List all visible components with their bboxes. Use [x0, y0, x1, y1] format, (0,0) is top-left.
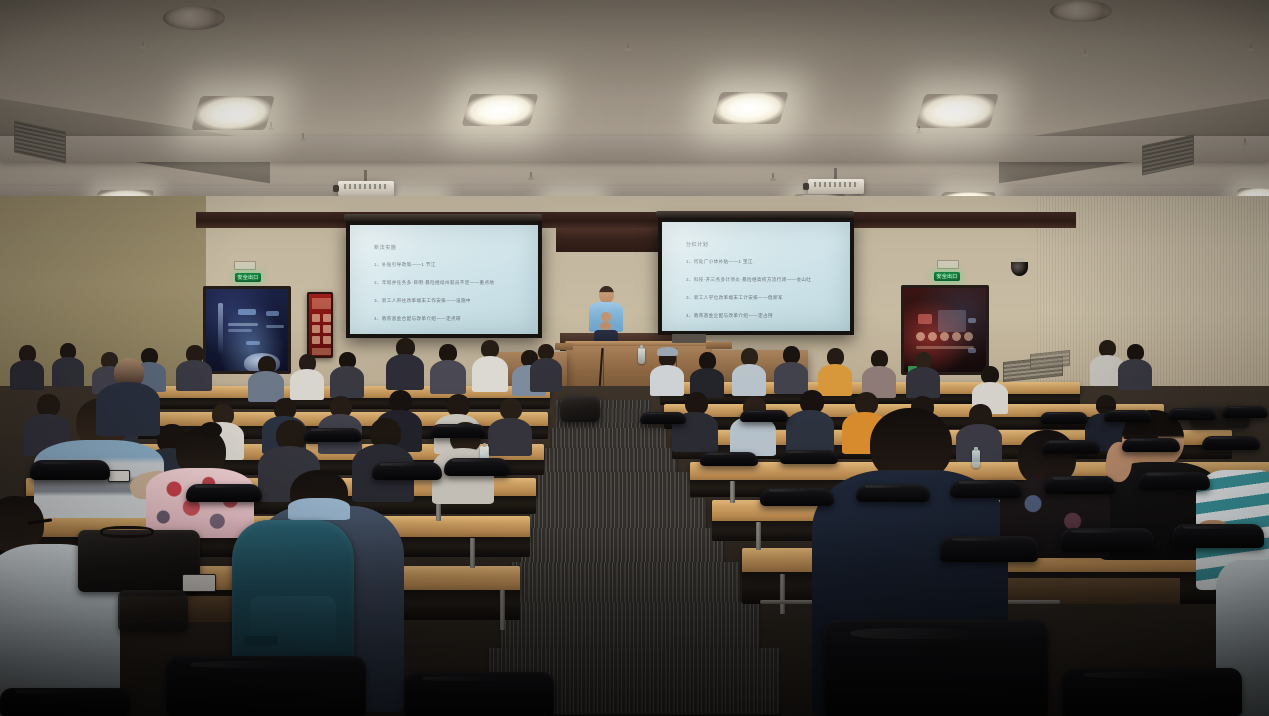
right-slide-line-4: 4、教育基金企配与改革介绍——定占持 — [686, 313, 773, 319]
ceiling-light-3 — [711, 92, 788, 124]
desk-leg-right-3 — [780, 574, 785, 614]
sprinkler-head-9 — [528, 172, 534, 181]
chair[interactable] — [30, 460, 110, 480]
sprinkler-head-1 — [140, 41, 146, 50]
left-slide-line-1: 1、补贴引导政策——1 节江 — [374, 262, 436, 268]
audience-member — [330, 352, 364, 398]
chair[interactable] — [760, 488, 834, 506]
bag-strap — [100, 526, 154, 538]
audience-member — [488, 398, 532, 456]
right-slide-line-2: 2、科技·开三务多计项炎·暴险继高校方流行闭——会山吐 — [686, 277, 811, 283]
right-slide-line-3: 3、新工人学位改革端末工计安排——倡新军 — [686, 295, 783, 301]
sprinkler-head-7 — [1242, 138, 1248, 147]
water-bottle-2 — [638, 348, 645, 364]
chair[interactable] — [1168, 408, 1216, 420]
bag-on-desk-right — [560, 396, 600, 422]
exit-sign-left: 安全出口 — [235, 273, 261, 282]
hair-bun — [200, 422, 222, 438]
hoodie-collar — [288, 498, 350, 520]
ceiling-light-2 — [461, 94, 538, 126]
audience-member — [176, 345, 212, 391]
audience-member — [386, 338, 424, 390]
left-slide-title: 新法实施 — [374, 244, 396, 251]
audience-member — [96, 358, 160, 436]
desk-leg-right-1 — [730, 481, 735, 503]
desk-leg-left-2 — [470, 538, 475, 568]
chair[interactable] — [404, 672, 554, 716]
left-projection-screen[interactable]: 新法实施 1、补贴引导政策——1 节江 2、年假并任务多·目明·暴险继续州就员不… — [346, 221, 542, 338]
chair[interactable] — [700, 452, 758, 466]
audience-member — [530, 344, 562, 392]
presenter-laptop[interactable] — [672, 334, 706, 343]
aisle-step-1 — [552, 428, 666, 450]
audience-member — [862, 350, 896, 398]
screen-roller-left — [344, 214, 542, 221]
chair[interactable] — [640, 412, 686, 424]
chair[interactable] — [1060, 528, 1154, 552]
dome-security-camera — [1011, 258, 1028, 277]
desk-leg-right-2 — [756, 522, 761, 550]
wood-trim-upper — [196, 212, 1076, 228]
audience-member — [818, 348, 852, 396]
audience-member — [52, 343, 84, 387]
wall-fixture-right — [937, 260, 959, 269]
baseball-cap — [657, 347, 678, 356]
chair[interactable] — [1122, 438, 1180, 452]
ceiling-light-4 — [915, 94, 999, 128]
chair[interactable] — [1042, 440, 1100, 454]
aisle-step-4 — [530, 498, 706, 530]
sprinkler-head-3 — [300, 133, 306, 142]
red-notice-board[interactable] — [307, 292, 333, 358]
presenter — [586, 286, 626, 348]
sprinkler-head-10 — [770, 173, 776, 182]
left-slide-line-2: 2、年假并任务多·目明·暴险继续州就员不足——重点地 — [374, 280, 494, 286]
chair[interactable] — [824, 620, 1048, 716]
smartphone-on-desk[interactable] — [182, 574, 216, 592]
chair[interactable] — [1104, 410, 1152, 422]
aisle-step-2 — [545, 448, 677, 474]
presenter-head — [599, 286, 614, 303]
chair[interactable] — [186, 484, 262, 502]
sprinkler-head-5 — [1082, 49, 1088, 58]
ceiling-projector-left[interactable] — [338, 181, 394, 196]
chair[interactable] — [950, 480, 1022, 498]
round-air-vent-right — [1050, 0, 1112, 22]
aisle-step-6 — [512, 562, 740, 604]
chair[interactable] — [1044, 476, 1116, 494]
chair[interactable] — [1062, 668, 1242, 716]
audience-member — [10, 345, 44, 390]
round-air-vent-left — [163, 6, 225, 30]
audience-member — [650, 350, 684, 396]
desk-leg-left-3 — [500, 590, 505, 630]
aisle-step-3 — [538, 472, 690, 500]
presenter-hand-lower — [600, 322, 611, 330]
right-projection-screen[interactable]: 分红计划 1、何处广小体补贴——1 宝江 2、科技·开三务多计项炎·暴险继高校方… — [658, 218, 854, 335]
sprinkler-head-2 — [268, 122, 274, 131]
screen-roller-right — [656, 211, 854, 218]
exit-sign-right: 安全出口 — [934, 272, 960, 281]
exit-sign-right-label: 安全出口 — [936, 273, 957, 280]
right-slide-title: 分红计划 — [686, 241, 708, 248]
chair[interactable] — [1138, 472, 1210, 490]
chair[interactable] — [940, 536, 1038, 562]
audience-member — [906, 352, 940, 398]
audience-member — [732, 348, 766, 396]
ceiling-light-1 — [191, 96, 275, 130]
audience-member — [290, 354, 324, 400]
chair[interactable] — [372, 462, 442, 480]
chair[interactable] — [166, 656, 366, 716]
left-slide-line-4: 4、教育基金合配与改革介绍——定点研 — [374, 316, 461, 322]
chair[interactable] — [444, 458, 510, 476]
backpack-strap — [244, 636, 278, 646]
chair[interactable] — [1040, 412, 1088, 424]
audience-member — [1118, 344, 1152, 390]
aisle-step-5 — [521, 528, 723, 564]
right-slide-line-1: 1、何处广小体补贴——1 宝江 — [686, 259, 753, 265]
ceiling-projector-right[interactable] — [808, 179, 864, 194]
smartphone-on-desk-2[interactable] — [108, 470, 130, 482]
water-bottle-3 — [972, 450, 980, 468]
audience-member — [730, 396, 776, 456]
chair[interactable] — [1222, 406, 1268, 418]
exit-sign-left-label: 安全出口 — [237, 274, 258, 281]
left-slide-line-3: 3、新工人带往改革端末工作安排——设施中 — [374, 298, 471, 304]
sprinkler-head-4 — [625, 43, 631, 52]
front-table-right — [706, 342, 732, 349]
audience-member — [430, 344, 466, 394]
chair[interactable] — [0, 688, 130, 716]
wall-fixture-left — [234, 261, 256, 270]
chair[interactable] — [780, 450, 838, 464]
chair[interactable] — [740, 410, 788, 422]
presenter-hand-gesture — [601, 312, 611, 322]
audience-member — [774, 346, 808, 394]
black-bag-secondary — [118, 590, 188, 632]
sprinkler-head-6 — [1248, 43, 1254, 52]
audience-member — [248, 356, 284, 402]
ceiling-beam-main — [0, 136, 1269, 162]
chair[interactable] — [856, 484, 930, 502]
lecture-hall-photo: 新法实施 1、补贴引导政策——1 节江 2、年假并任务多·目明·暴险继续州就员不… — [0, 0, 1269, 716]
audience-member — [472, 340, 508, 392]
chair[interactable] — [430, 424, 486, 438]
chair[interactable] — [304, 428, 362, 442]
chair[interactable] — [1202, 436, 1260, 450]
aisle-step-7 — [501, 602, 759, 650]
chair[interactable] — [1172, 524, 1264, 548]
